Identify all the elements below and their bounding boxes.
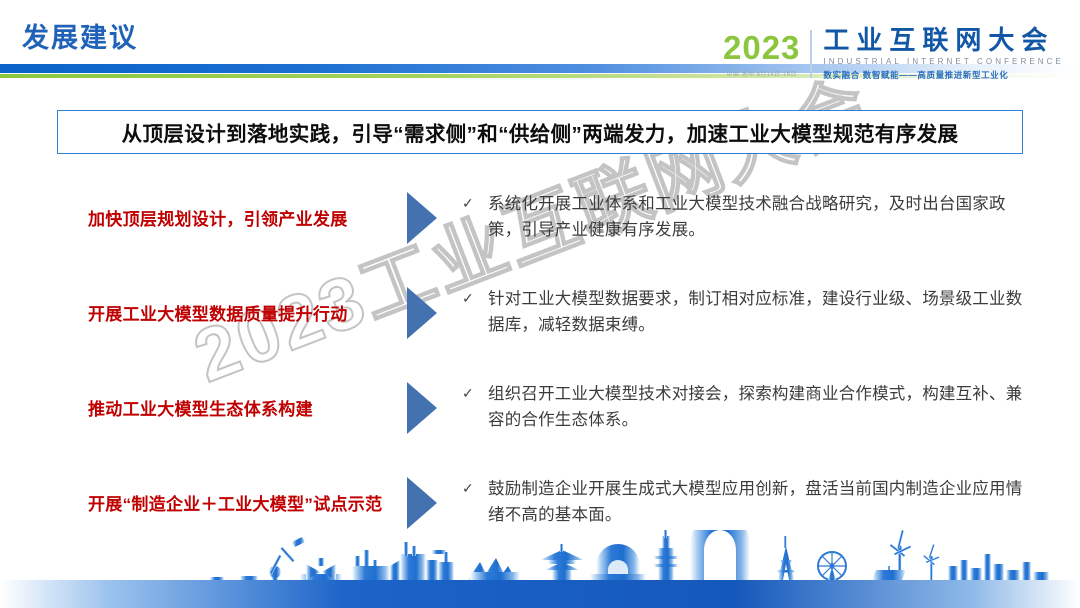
check-icon: ✓ [462, 382, 488, 405]
logo-text-block: 工业互联网大会 INDUSTRIAL INTERNET CONFERENCE 数… [812, 26, 1064, 82]
recommendation-label: 加快顶层规划设计，引领产业发展 [0, 205, 390, 230]
recommendation-detail: ✓ 系统化开展工业体系和工业大模型技术融合战略研究，及时出台国家政策，引导产业健… [454, 192, 1080, 243]
logo-slogan: 数实融合 数智赋能——高质量推进新型工业化 [823, 69, 1064, 81]
check-icon: ✓ [462, 287, 488, 310]
arrow-right-icon [390, 287, 454, 339]
slide: 发展建议 2023 中国·苏州 8月14日-16日 工业互联网大会 INDUST… [0, 0, 1080, 608]
recommendation-detail: ✓ 组织召开工业大模型技术对接会，探索构建商业合作模式，构建互补、兼容的合作生态… [454, 382, 1080, 433]
list-item: 开展工业大模型数据质量提升行动 ✓ 针对工业大模型数据要求，制订相对应标准，建设… [0, 265, 1080, 360]
page-title: 发展建议 [22, 16, 138, 55]
logo-name-en: INDUSTRIAL INTERNET CONFERENCE [823, 57, 1064, 66]
arrow-right-icon [390, 382, 454, 434]
recommendation-label: 开展“制造企业＋工业大模型”试点示范 [0, 490, 390, 515]
key-message-text: 从顶层设计到落地实践，引导“需求侧”和“供给侧”两端发力，加速工业大模型规范有序… [122, 117, 959, 147]
recommendation-description: 系统化开展工业体系和工业大模型技术融合战略研究，及时出台国家政策，引导产业健康有… [488, 192, 1038, 243]
recommendation-label: 推动工业大模型生态体系构建 [0, 395, 390, 420]
list-item: 开展“制造企业＋工业大模型”试点示范 ✓ 鼓励制造企业开展生成式大模型应用创新，… [0, 455, 1080, 550]
recommendation-description: 鼓励制造企业开展生成式大模型应用创新，盘活当前国内制造企业应用情绪不高的基本面。 [488, 477, 1038, 528]
logo-year-block: 2023 中国·苏州 8月14日-16日 [723, 26, 810, 82]
list-item: 加快顶层规划设计，引领产业发展 ✓ 系统化开展工业体系和工业大模型技术融合战略研… [0, 170, 1080, 265]
key-message-banner: 从顶层设计到落地实践，引导“需求侧”和“供给侧”两端发力，加速工业大模型规范有序… [57, 110, 1023, 154]
check-icon: ✓ [462, 477, 488, 500]
recommendation-description: 组织召开工业大模型技术对接会，探索构建商业合作模式，构建互补、兼容的合作生态体系… [488, 382, 1038, 433]
recommendation-label: 开展工业大模型数据质量提升行动 [0, 300, 390, 325]
logo-date-location: 中国·苏州 8月14日-16日 [727, 69, 797, 78]
recommendation-description: 针对工业大模型数据要求，制订相对应标准，建设行业级、场景级工业数据库，减轻数据束… [488, 287, 1038, 338]
check-icon: ✓ [462, 192, 488, 215]
recommendation-list: 加快顶层规划设计，引领产业发展 ✓ 系统化开展工业体系和工业大模型技术融合战略研… [0, 170, 1080, 550]
logo-year: 2023 [723, 31, 800, 64]
arrow-right-icon [390, 477, 454, 529]
conference-logo: 2023 中国·苏州 8月14日-16日 工业互联网大会 INDUSTRIAL … [723, 26, 1064, 82]
list-item: 推动工业大模型生态体系构建 ✓ 组织召开工业大模型技术对接会，探索构建商业合作模… [0, 360, 1080, 455]
recommendation-detail: ✓ 针对工业大模型数据要求，制订相对应标准，建设行业级、场景级工业数据库，减轻数… [454, 287, 1080, 338]
recommendation-detail: ✓ 鼓励制造企业开展生成式大模型应用创新，盘活当前国内制造企业应用情绪不高的基本… [454, 477, 1080, 528]
logo-name-cn: 工业互联网大会 [823, 27, 1064, 54]
arrow-right-icon [390, 192, 454, 244]
slide-header: 发展建议 2023 中国·苏州 8月14日-16日 工业互联网大会 INDUST… [0, 0, 1080, 86]
